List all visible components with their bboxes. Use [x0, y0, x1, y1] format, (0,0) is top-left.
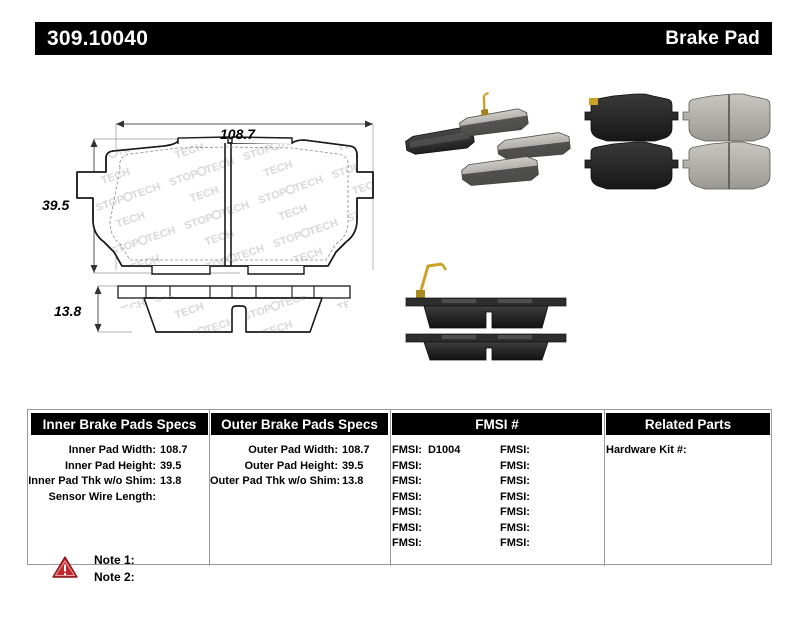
- table-header-row: Inner Brake Pads Specs Outer Brake Pads …: [28, 410, 771, 435]
- brake-pad-side-view: [60, 270, 405, 380]
- spec-value: 39.5: [338, 459, 387, 475]
- fmsi-entry: FMSI:: [500, 490, 600, 506]
- spec-row: Inner Pad Width: 108.7: [28, 443, 209, 459]
- front-width-dimension: 108.7: [220, 126, 255, 142]
- spec-label: Inner Pad Height:: [28, 459, 156, 475]
- fmsi-label: FMSI:: [500, 460, 530, 472]
- fmsi-entry: FMSI:: [500, 459, 600, 475]
- fmsi-value: [530, 522, 536, 534]
- part-number: 309.10040: [47, 27, 148, 51]
- related-entry: Hardware Kit #:: [606, 443, 770, 459]
- fmsi-value: [530, 537, 536, 549]
- fmsi-entry: FMSI:: [392, 490, 500, 506]
- spec-label: Inner Pad Width:: [28, 443, 156, 459]
- spec-sheet: 309.10040 Brake Pad STOP TECH TECH: [0, 0, 800, 619]
- fmsi-entry: FMSI:: [392, 521, 500, 537]
- column-header-fmsi: FMSI #: [392, 413, 602, 435]
- spec-label: Outer Pad Thk w/o Shim:: [210, 474, 338, 490]
- column-header-outer: Outer Brake Pads Specs: [211, 413, 388, 435]
- front-height-dimension: 39.5: [42, 197, 69, 213]
- fmsi-entry: FMSI:: [500, 536, 600, 552]
- fmsi-value: [422, 522, 428, 534]
- fmsi-body: FMSI:D1004 FMSI: FMSI: FMSI: FMSI:: [392, 443, 602, 552]
- photo-angled-set-of-four: [400, 90, 580, 190]
- warning-triangle-icon: [52, 555, 78, 579]
- fmsi-entry: FMSI:: [500, 474, 600, 490]
- column-header-inner: Inner Brake Pads Specs: [31, 413, 208, 435]
- fmsi-label: FMSI:: [500, 491, 530, 503]
- spec-row: Outer Pad Thk w/o Shim: 13.8: [210, 474, 390, 490]
- spec-label: Outer Pad Height:: [210, 459, 338, 475]
- drawing-area: STOP TECH TECH: [0, 80, 800, 400]
- fmsi-value: D1004: [422, 444, 460, 456]
- fmsi-entry: FMSI:: [392, 474, 500, 490]
- spec-value: 13.8: [156, 474, 205, 490]
- related-value: [687, 444, 693, 456]
- outer-specs-body: Outer Pad Width: 108.7 Outer Pad Height:…: [210, 443, 390, 490]
- fmsi-entry: FMSI:: [500, 521, 600, 537]
- fmsi-label: FMSI:: [500, 444, 530, 456]
- fmsi-entry: FMSI:: [392, 505, 500, 521]
- photo-edge-pair-with-sensor: [402, 252, 577, 362]
- fmsi-label: FMSI:: [500, 522, 530, 534]
- spec-value: [156, 490, 205, 506]
- fmsi-value: [422, 475, 428, 487]
- fmsi-label: FMSI:: [392, 460, 422, 472]
- fmsi-label: FMSI:: [392, 522, 422, 534]
- spec-row: Inner Pad Height: 39.5: [28, 459, 209, 475]
- spec-row: Inner Pad Thk w/o Shim: 13.8: [28, 474, 209, 490]
- fmsi-label: FMSI:: [392, 444, 422, 456]
- fmsi-value: [422, 460, 428, 472]
- fmsi-entry: FMSI:: [392, 536, 500, 552]
- product-type: Brake Pad: [665, 28, 760, 50]
- column-divider-3: [604, 410, 605, 566]
- spec-row: Sensor Wire Length:: [28, 490, 209, 506]
- spec-row: Outer Pad Height: 39.5: [210, 459, 390, 475]
- fmsi-value: [530, 460, 536, 472]
- spec-row: Outer Pad Width: 108.7: [210, 443, 390, 459]
- fmsi-value: [530, 475, 536, 487]
- fmsi-label: FMSI:: [392, 537, 422, 549]
- inner-specs-body: Inner Pad Width: 108.7 Inner Pad Height:…: [28, 443, 209, 505]
- related-parts-body: Hardware Kit #:: [606, 443, 770, 459]
- fmsi-label: FMSI:: [392, 506, 422, 518]
- fmsi-column-right: FMSI: FMSI: FMSI: FMSI: FMSI:: [500, 443, 600, 552]
- note-2: Note 2:: [94, 569, 135, 586]
- fmsi-value: [422, 537, 428, 549]
- fmsi-label: FMSI:: [500, 475, 530, 487]
- fmsi-label: FMSI:: [392, 491, 422, 503]
- spec-value: 108.7: [338, 443, 387, 459]
- note-1: Note 1:: [94, 552, 135, 569]
- fmsi-value: [530, 506, 536, 518]
- fmsi-entry: FMSI:: [500, 505, 600, 521]
- column-divider-2: [390, 410, 391, 566]
- spec-value: 13.8: [338, 474, 387, 490]
- fmsi-entry: FMSI:: [500, 443, 600, 459]
- column-header-related: Related Parts: [606, 413, 770, 435]
- fmsi-value: [530, 491, 536, 503]
- specs-table: Inner Brake Pads Specs Outer Brake Pads …: [27, 409, 772, 565]
- fmsi-column-left: FMSI:D1004 FMSI: FMSI: FMSI: FMSI:: [392, 443, 500, 552]
- spec-label: Inner Pad Thk w/o Shim:: [28, 474, 156, 490]
- fmsi-label: FMSI:: [500, 537, 530, 549]
- notes-section: Note 1: Note 2:: [52, 552, 135, 586]
- related-label: Hardware Kit #:: [606, 444, 687, 456]
- fmsi-label: FMSI:: [500, 506, 530, 518]
- side-view-group: 13.8: [60, 270, 405, 380]
- spec-label: Outer Pad Width:: [210, 443, 338, 459]
- spec-label: Sensor Wire Length:: [28, 490, 156, 506]
- spec-value: 39.5: [156, 459, 205, 475]
- fmsi-entry: FMSI:D1004: [392, 443, 500, 459]
- title-bar: 309.10040 Brake Pad: [35, 22, 772, 55]
- note-list: Note 1: Note 2:: [94, 552, 135, 586]
- fmsi-label: FMSI:: [392, 475, 422, 487]
- photo-grid-front-and-back: [583, 88, 768, 193]
- fmsi-entry: FMSI:: [392, 459, 500, 475]
- fmsi-value: [422, 491, 428, 503]
- side-thickness-dimension: 13.8: [54, 303, 81, 319]
- fmsi-value: [530, 444, 536, 456]
- fmsi-value: [422, 506, 428, 518]
- spec-value: 108.7: [156, 443, 205, 459]
